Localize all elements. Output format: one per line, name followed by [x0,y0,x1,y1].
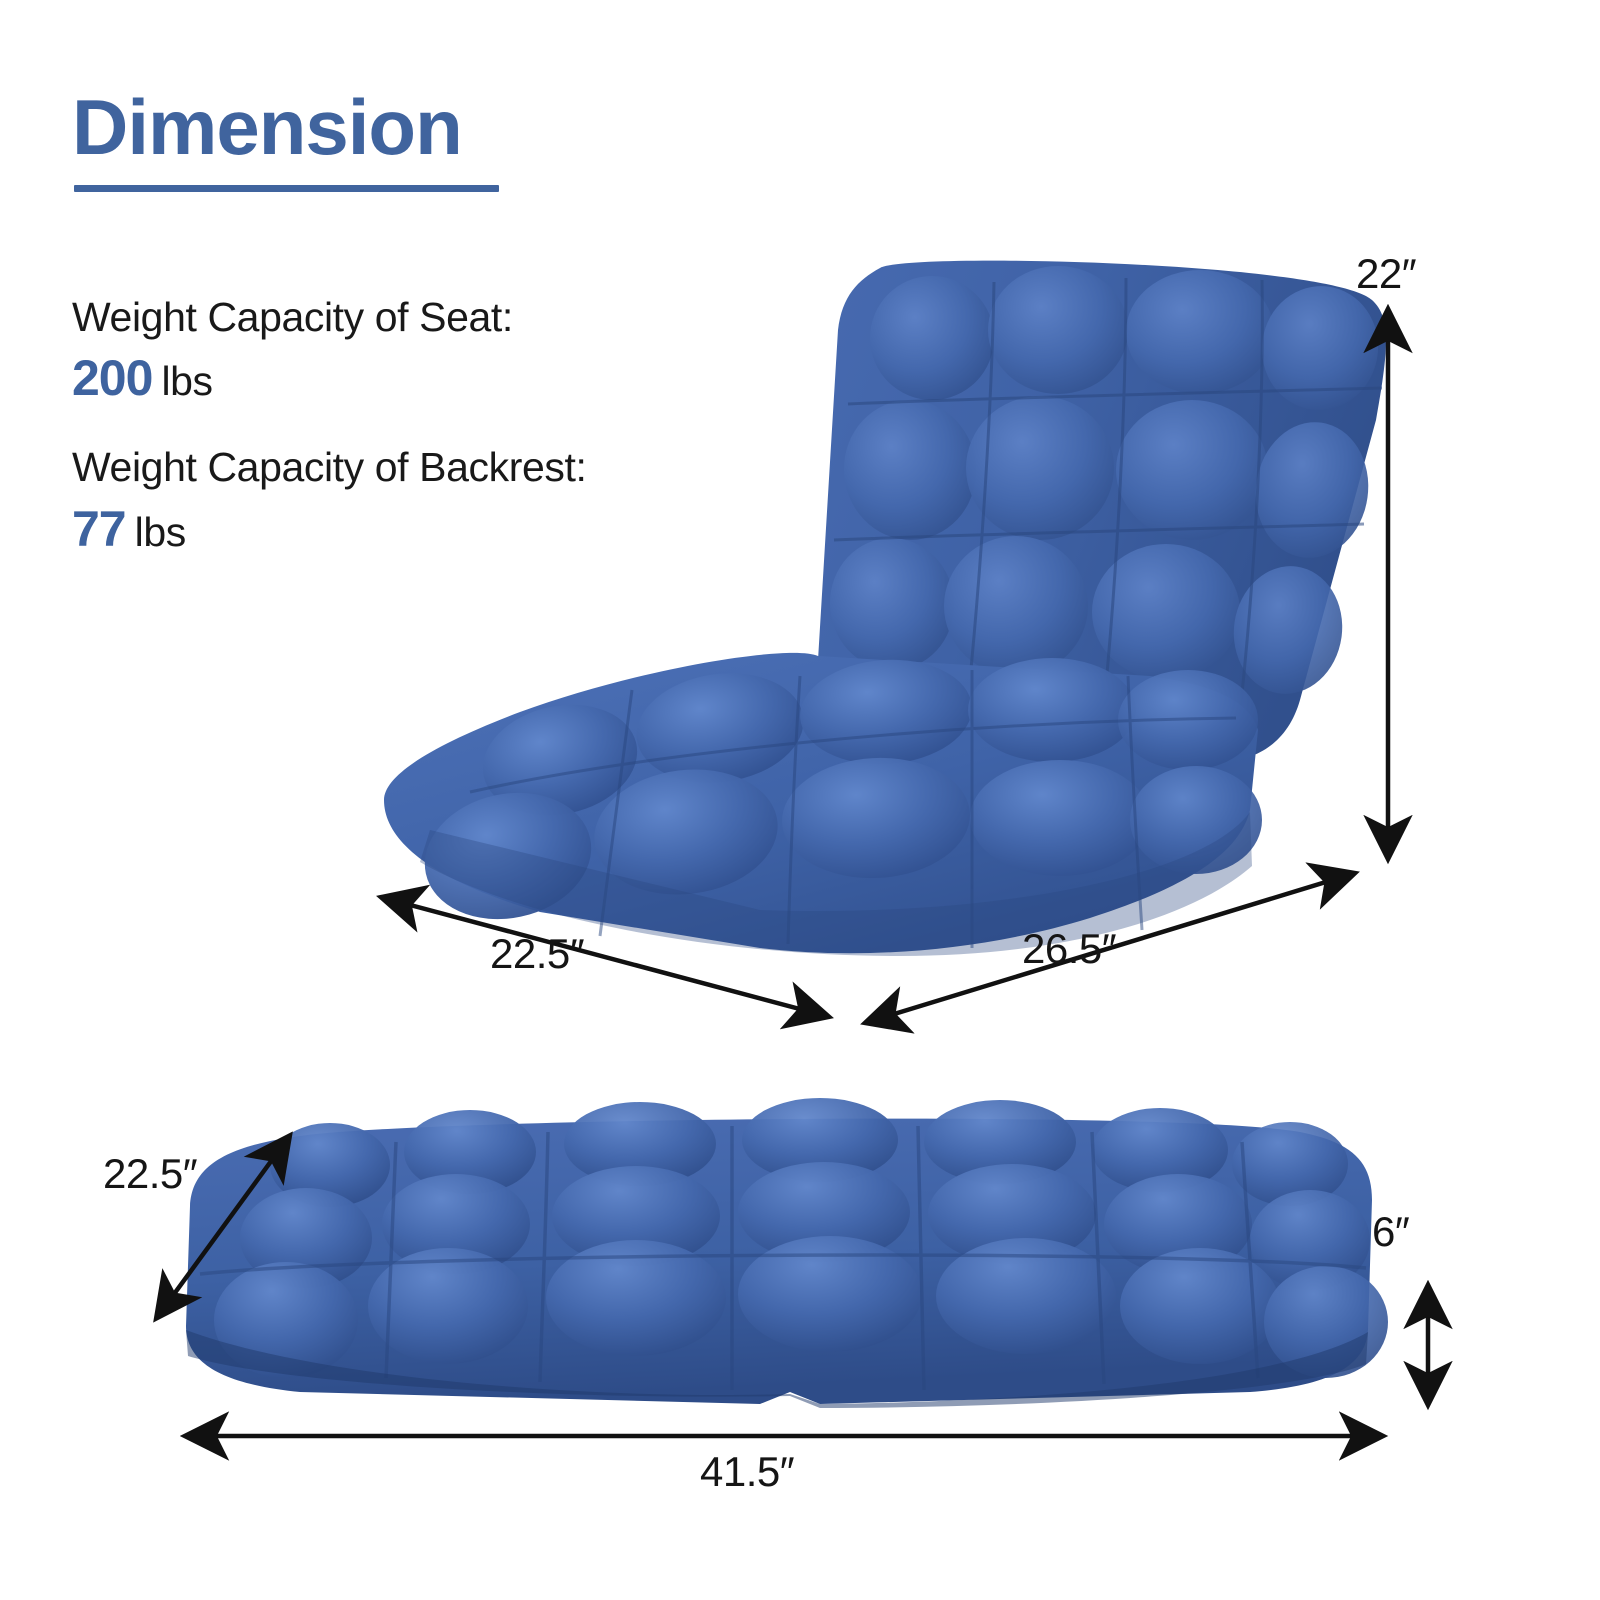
spec-item-backrest-capacity: Weight Capacity of Backrest: 77lbs [72,445,732,553]
spec-number-seat-capacity: 200 [72,350,152,406]
chair-flat-illustration [186,1098,1388,1408]
spec-unit-seat-capacity: lbs [161,358,212,404]
backrest-seams [834,278,1382,712]
page-title: Dimension [72,88,462,166]
seat-tufting [413,654,1262,934]
spec-unit-backrest-capacity: lbs [135,509,186,555]
dimension-label-height-22: 22″ [1356,250,1416,298]
spec-item-seat-capacity: Weight Capacity of Seat: 200lbs [72,295,732,403]
dimension-label-width-26-5: 26.5″ [1022,925,1116,973]
infographic-canvas: Dimension Weight Capacity of Seat: 200lb… [0,0,1600,1600]
title-underline-rule [74,185,499,192]
spec-label-seat-capacity: Weight Capacity of Seat: [72,295,732,339]
backrest-body [818,261,1386,762]
dimension-arrow-depth-22-5 [384,898,826,1016]
dimension-label-depth-22-5: 22.5″ [490,930,584,978]
specifications-block: Weight Capacity of Seat: 200lbs Weight C… [72,295,732,596]
spec-label-backrest-capacity: Weight Capacity of Backrest: [72,445,732,489]
product-illustrations [0,0,1600,1600]
chair-flat-dimension-arrows [158,1138,1428,1436]
backrest-tufting [823,266,1386,701]
dimension-label-length-41-5: 41.5″ [700,1448,794,1496]
dimension-label-thickness-6: 6″ [1372,1208,1409,1256]
flat-tufting-row-front [214,1236,1388,1378]
flat-chair-seams [200,1126,1366,1390]
flat-tufting-row-middle [240,1162,1370,1290]
flat-chair-base-shadow [186,1330,1368,1408]
flat-tufting-row-back [270,1098,1348,1207]
flat-chair-body [186,1119,1372,1404]
seat-cushion-body [384,653,1258,953]
seat-seams [470,670,1236,948]
spec-value-seat-capacity: 200lbs [72,353,732,403]
spec-number-backrest-capacity: 77 [72,501,126,557]
dimension-label-depth-22-5-flat: 22.5″ [103,1150,197,1198]
spec-value-backrest-capacity: 77lbs [72,504,732,554]
